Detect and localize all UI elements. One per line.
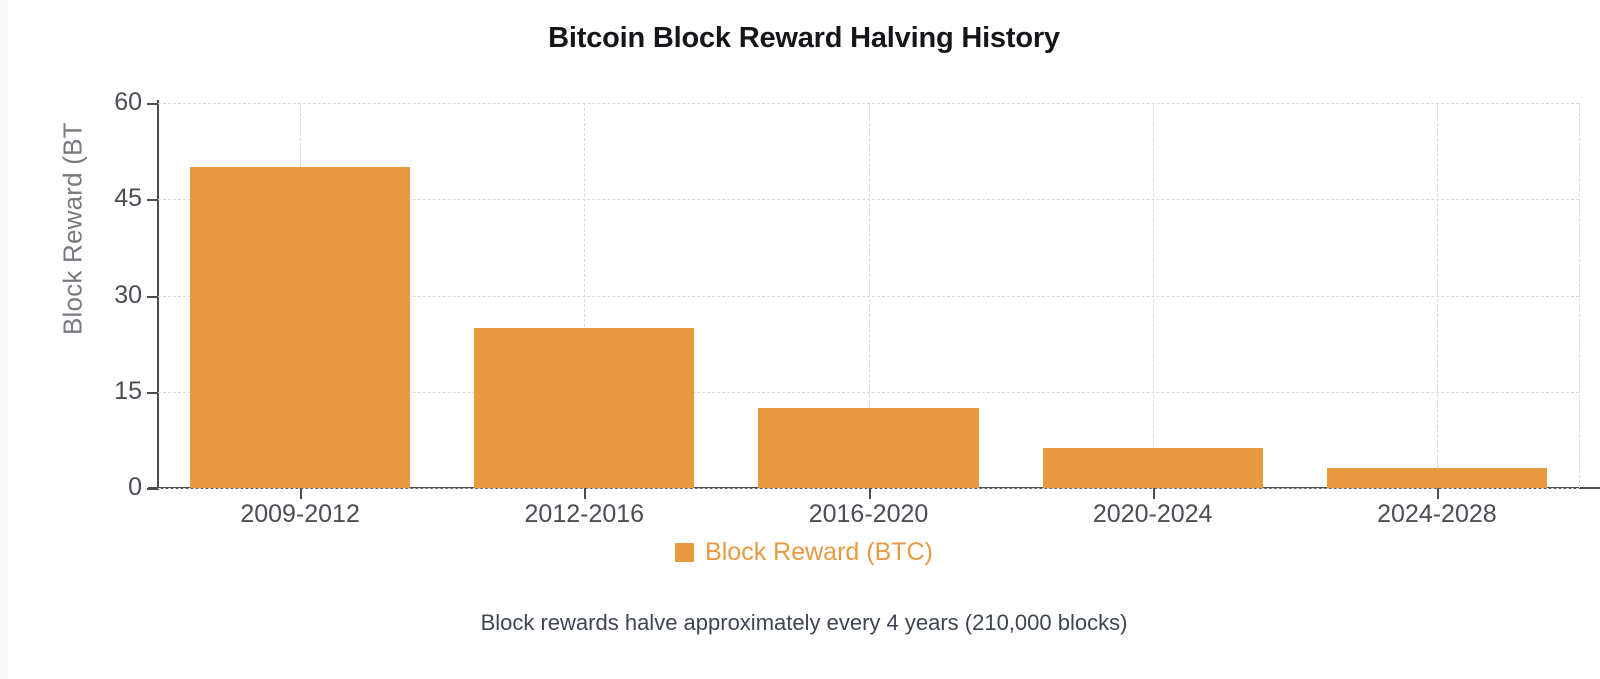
chart-card: Bitcoin Block Reward Halving History Blo… bbox=[0, 0, 1600, 679]
y-tick-label: 45 bbox=[114, 186, 142, 211]
y-axis-title: Block Reward (BT bbox=[58, 122, 89, 335]
x-tick-label-2009-2012: 2009-2012 bbox=[240, 500, 360, 529]
x-tick-label-2024-2028: 2024-2028 bbox=[1377, 500, 1497, 529]
y-tick-mark bbox=[147, 103, 158, 105]
x-tick-label-2012-2016: 2012-2016 bbox=[525, 500, 645, 529]
x-tick-mark bbox=[300, 488, 302, 499]
gridline-vertical-edge bbox=[1579, 103, 1580, 488]
y-tick-label: 60 bbox=[114, 90, 142, 115]
x-tick-mark bbox=[584, 488, 586, 499]
legend-swatch-icon bbox=[675, 543, 694, 562]
chart-title: Bitcoin Block Reward Halving History bbox=[8, 22, 1600, 55]
x-tick-mark bbox=[1437, 488, 1439, 499]
y-tick-label: 30 bbox=[114, 283, 142, 308]
gridline-vertical bbox=[1437, 103, 1438, 488]
x-tick-mark bbox=[1153, 488, 1155, 499]
bar-2024-2028[interactable] bbox=[1327, 468, 1547, 488]
x-tick-mark bbox=[869, 488, 871, 499]
x-tick-label-2016-2020: 2016-2020 bbox=[809, 500, 929, 529]
y-tick-mark bbox=[147, 296, 158, 298]
plot-area bbox=[158, 103, 1579, 488]
legend-item-label[interactable]: Block Reward (BTC) bbox=[705, 538, 933, 567]
y-tick-mark bbox=[147, 199, 158, 201]
y-tick-mark bbox=[147, 488, 158, 490]
bar-2016-2020[interactable] bbox=[758, 408, 978, 488]
gridline-vertical bbox=[1153, 103, 1154, 488]
bar-2012-2016[interactable] bbox=[474, 328, 694, 488]
chart-caption: Block rewards halve approximately every … bbox=[8, 610, 1600, 636]
y-axis-title-container: Block Reward (BT bbox=[54, 103, 92, 335]
bar-2009-2012[interactable] bbox=[190, 167, 410, 488]
x-tick-label-2020-2024: 2020-2024 bbox=[1093, 500, 1213, 529]
y-tick-mark bbox=[147, 392, 158, 394]
bar-2020-2024[interactable] bbox=[1043, 448, 1263, 488]
y-tick-label: 15 bbox=[114, 379, 142, 404]
y-tick-label: 0 bbox=[128, 475, 142, 500]
chart-legend[interactable]: Block Reward (BTC) bbox=[8, 538, 1600, 567]
